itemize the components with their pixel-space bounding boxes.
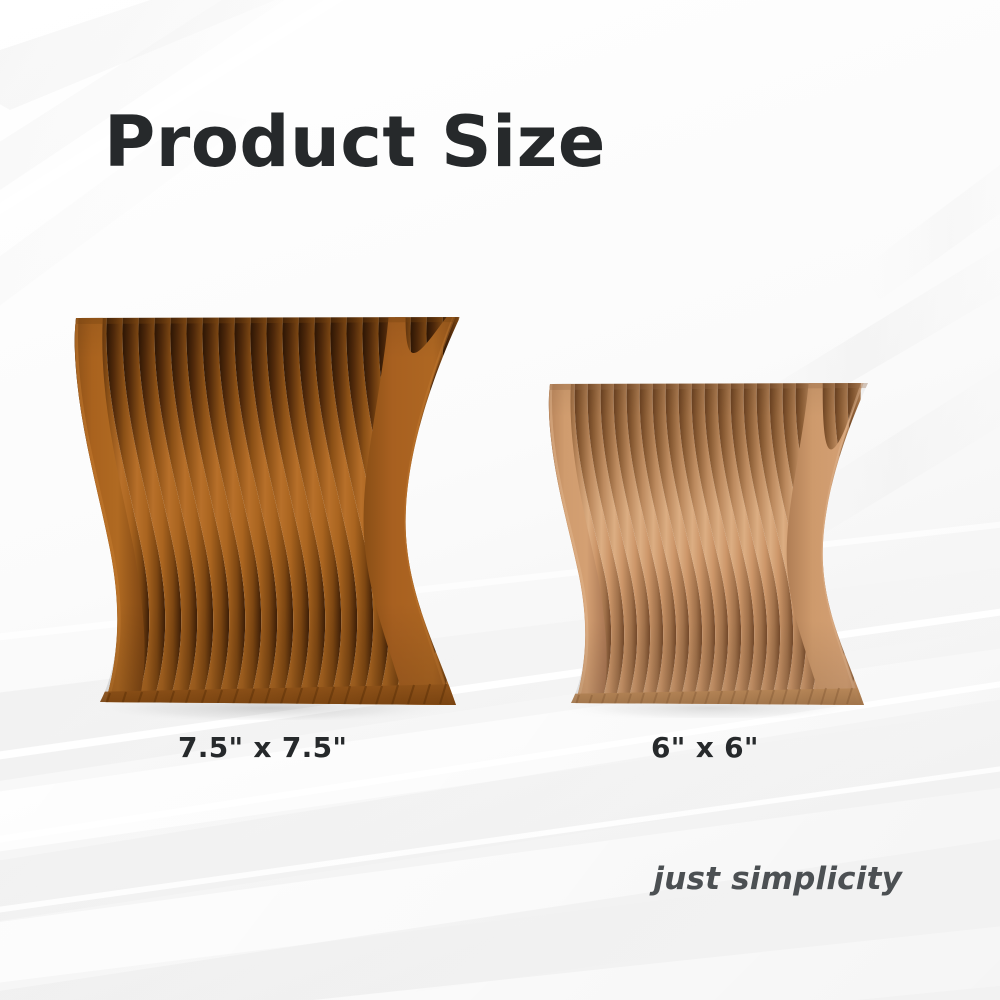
brand-tagline: just simplicity	[653, 861, 902, 897]
size-label-large: 7.5" x 7.5"	[178, 731, 347, 764]
page-title: Product Size	[104, 107, 606, 177]
product-image-large	[58, 300, 478, 720]
product-image-small	[534, 368, 884, 718]
product-size-infographic: Product Size	[0, 0, 1000, 1000]
size-label-small: 6" x 6"	[651, 731, 759, 764]
